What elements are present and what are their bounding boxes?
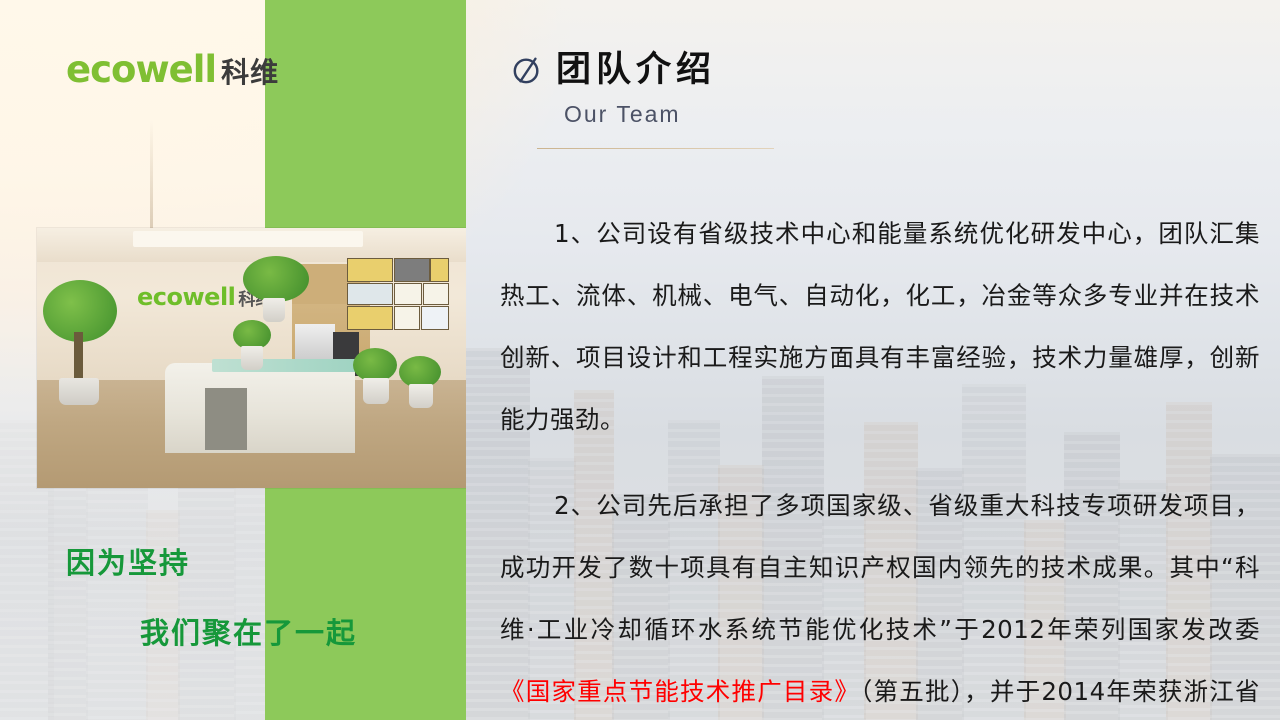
page-subtitle: Our Team xyxy=(564,101,716,128)
brand-logo-en: ecowell xyxy=(66,48,216,91)
photo-desk-panel xyxy=(205,388,247,450)
photo-wall-logo-en: ecowell xyxy=(137,283,235,311)
page-header: 团队介绍 Our Team xyxy=(512,52,716,128)
paragraph-2: 2、公司先后承担了多项国家级、省级重大科技专项研发项目，成功开发了数十项具有自主… xyxy=(500,475,1260,720)
photo-potted-tree xyxy=(43,280,117,405)
slogan-block: 因为坚持 我们聚在了一起 xyxy=(0,540,466,652)
slogan-line-2: 我们聚在了一起 xyxy=(140,610,466,652)
slide: ecowell 科维 ecow xyxy=(0,0,1280,720)
photo-floor-plant-2 xyxy=(399,356,441,410)
photo-ceiling-light xyxy=(133,231,363,247)
photo-tall-plant xyxy=(243,256,309,330)
photo-certificate-wall xyxy=(347,258,447,338)
header-divider xyxy=(537,148,774,149)
body-text: 1、公司设有省级技术中心和能量系统优化研发中心，团队汇集热工、流体、机械、电气、… xyxy=(500,178,1260,720)
content-area: 团队介绍 Our Team 1、公司设有省级技术中心和能量系统优化研发中心，团队… xyxy=(466,0,1280,720)
brand-logo-cn: 科维 xyxy=(221,51,279,91)
slogan-line-1: 因为坚持 xyxy=(66,540,466,582)
paragraph-2-highlight: 《国家重点节能技术推广目录》 xyxy=(500,677,860,706)
tower-spire xyxy=(150,120,153,240)
paragraph-1: 1、公司设有省级技术中心和能量系统优化研发中心，团队汇集热工、流体、机械、电气、… xyxy=(500,203,1260,451)
photo-floor-plant-1 xyxy=(353,348,397,406)
left-panel: ecowell 科维 ecow xyxy=(0,0,466,720)
office-reception-photo: ecowell 科维 xyxy=(37,228,466,488)
paragraph-2-part1: 2、公司先后承担了多项国家级、省级重大科技专项研发项目，成功开发了数十项具有自主… xyxy=(500,491,1260,644)
paragraph-1-text: 1、公司设有省级技术中心和能量系统优化研发中心，团队汇集热工、流体、机械、电气、… xyxy=(500,219,1260,434)
circle-slash-icon xyxy=(512,55,542,85)
page-title: 团队介绍 xyxy=(556,52,716,87)
photo-reception-desk xyxy=(165,363,355,453)
brand-logo: ecowell 科维 xyxy=(66,48,279,91)
